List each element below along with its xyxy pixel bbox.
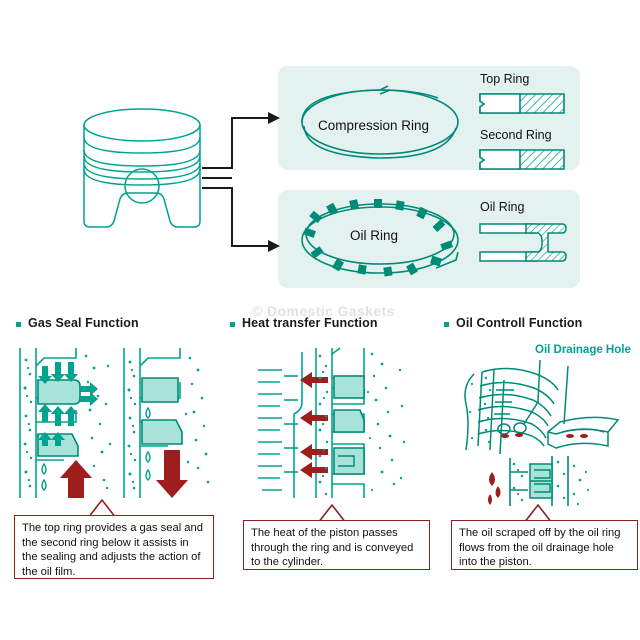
oil-drainage-hole-label: Oil Drainage Hole (535, 344, 631, 356)
gas-seal-illustration (14, 348, 214, 506)
heading-gas-seal: Gas Seal Function (28, 316, 139, 330)
bullet-icon-oil-control (444, 322, 449, 327)
heat-transfer-illustration (254, 348, 429, 506)
oil-control-illustration (452, 360, 638, 506)
gas-flow-arrow-down (156, 450, 188, 498)
caption-heat-transfer: The heat of the piston passes through th… (243, 520, 430, 570)
compression-ring-label: Compression Ring (318, 118, 429, 133)
oil-ring-label: Oil Ring (350, 228, 398, 243)
bullet-icon-gas-seal (16, 322, 21, 327)
connector-lines (200, 110, 300, 270)
caption-gas-seal: The top ring provides a gas seal and the… (14, 515, 214, 579)
caption-oil-control: The oil scraped off by the oil ring flow… (451, 520, 638, 570)
second-ring-label: Second Ring (480, 128, 552, 142)
oil-ring-section (478, 221, 570, 265)
heat-arrows (300, 372, 328, 478)
gas-flow-arrow-up (60, 460, 92, 498)
diagram-root: Compression Ring Top Ring Second Ring (0, 0, 640, 640)
oil-droplets (488, 472, 501, 505)
second-ring-section (478, 148, 568, 172)
bullet-icon-heat-transfer (230, 322, 235, 327)
heading-heat-transfer: Heat transfer Function (242, 316, 378, 330)
top-ring-label: Top Ring (480, 72, 529, 86)
heading-oil-control: Oil Controll Function (456, 316, 582, 330)
oil-ring-section-label: Oil Ring (480, 200, 524, 214)
top-ring-section (478, 92, 568, 116)
